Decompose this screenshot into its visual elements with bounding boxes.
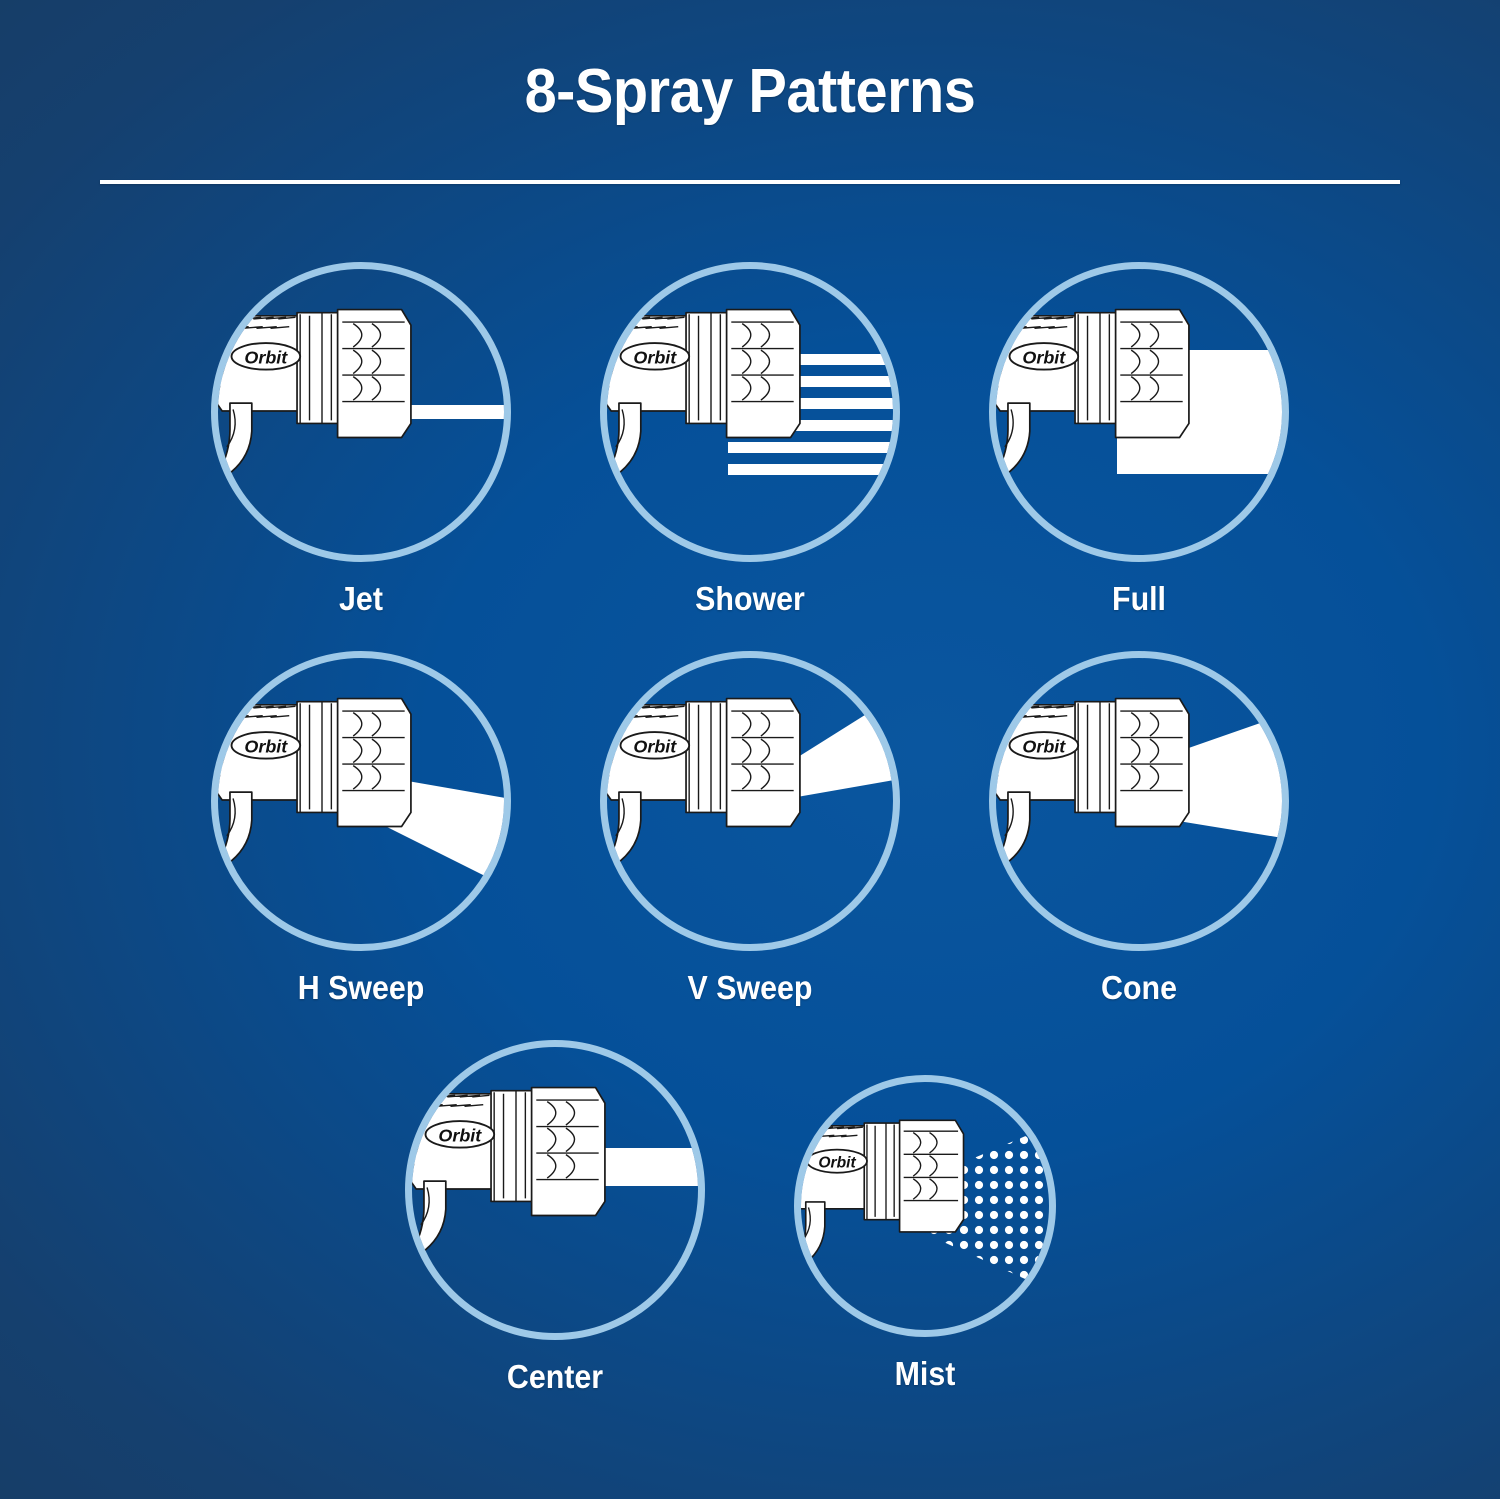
pattern-label-center: Center <box>417 1358 693 1396</box>
pattern-cell-full: Orbit Full <box>989 262 1289 618</box>
brand-label: Orbit <box>244 736 288 756</box>
brand-label: Orbit <box>633 736 677 756</box>
pattern-label-cone: Cone <box>1001 969 1277 1007</box>
pattern-cell-shower: Orbit Shower <box>600 262 900 618</box>
brand-label: Orbit <box>244 347 288 367</box>
pattern-disc-center: Orbit <box>405 1040 705 1340</box>
brand-label: Orbit <box>1022 736 1066 756</box>
spray-illustration-center: Orbit <box>405 1040 705 1340</box>
pattern-cell-center: Orbit Center <box>405 1040 705 1396</box>
pattern-label-hsweep: H Sweep <box>223 969 499 1007</box>
pattern-cell-cone: Orbit Cone <box>989 651 1289 1007</box>
brand-label: Orbit <box>633 347 677 367</box>
pattern-label-mist: Mist <box>804 1355 1045 1393</box>
pattern-disc-shower: Orbit <box>600 262 900 562</box>
pattern-label-full: Full <box>1001 580 1277 618</box>
brand-label: Orbit <box>818 1154 856 1171</box>
brand-label: Orbit <box>1022 347 1066 367</box>
brand-label: Orbit <box>438 1125 482 1145</box>
pattern-disc-mist: Orbit <box>794 1075 1056 1337</box>
spray-illustration-vsweep: Orbit <box>600 651 900 951</box>
pattern-disc-vsweep: Orbit <box>600 651 900 951</box>
pattern-disc-full: Orbit <box>989 262 1289 562</box>
pattern-cell-vsweep: Orbit V Sweep <box>600 651 900 1007</box>
pattern-disc-cone: Orbit <box>989 651 1289 951</box>
pattern-cell-mist: Orbit Mist <box>794 1075 1056 1393</box>
pattern-label-shower: Shower <box>612 580 888 618</box>
pattern-grid: Orbit Jet <box>0 0 1500 1499</box>
pattern-cell-jet: Orbit Jet <box>211 262 511 618</box>
spray-illustration-cone: Orbit <box>989 651 1289 951</box>
spray-illustration-mist: Orbit <box>794 1075 1056 1337</box>
pattern-cell-hsweep: Orbit H Sweep <box>211 651 511 1007</box>
spray-illustration-hsweep: Orbit <box>211 651 511 951</box>
pattern-disc-jet: Orbit <box>211 262 511 562</box>
spray-patterns-infographic: 8-Spray Patterns <box>0 0 1500 1499</box>
spray-illustration-shower: Orbit <box>600 262 900 562</box>
pattern-disc-hsweep: Orbit <box>211 651 511 951</box>
spray-illustration-jet: Orbit <box>211 262 511 562</box>
pattern-label-vsweep: V Sweep <box>612 969 888 1007</box>
pattern-label-jet: Jet <box>223 580 499 618</box>
spray-illustration-full: Orbit <box>989 262 1289 562</box>
